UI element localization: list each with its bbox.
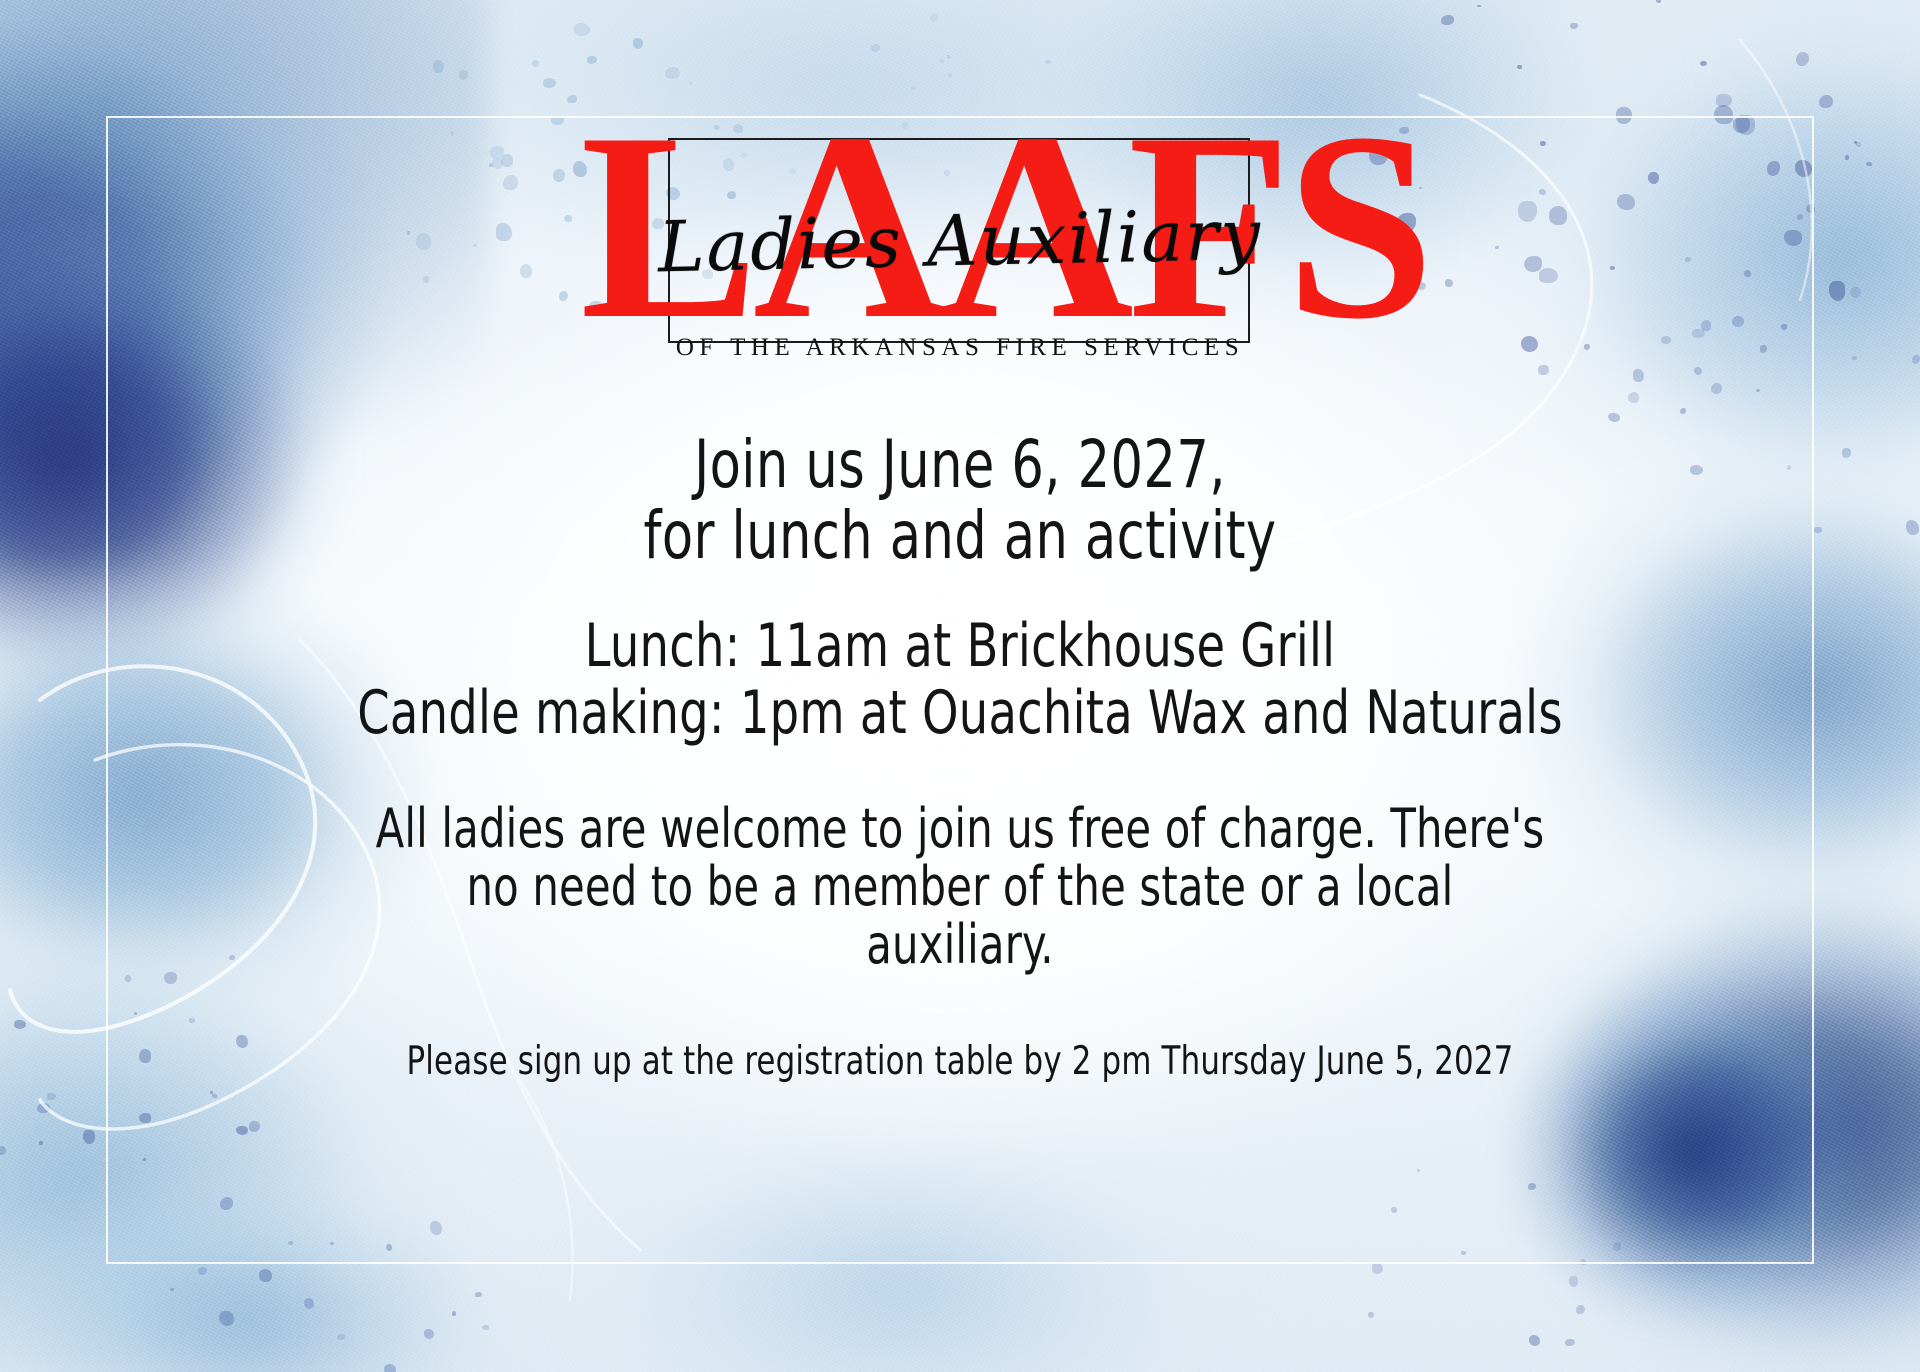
logo-tagline: OF THE ARKANSAS FIRE SERVICES [580,334,1340,362]
event-lead-line-1: Join us June 6, 2027, [694,426,1226,503]
welcome-note-line-1: All ladies are welcome to join us free o… [134,800,1785,858]
welcome-note: All ladies are welcome to join us free o… [134,800,1785,975]
logo-script-name: Ladies Auxiliary [579,198,1340,284]
event-details: Lunch: 11am at Brickhouse Grill Candle m… [0,613,1920,747]
signup-instruction: Please sign up at the registration table… [115,1041,1805,1084]
laafs-logo: LAAFS Ladies Auxiliary OF THE ARKANSAS F… [0,128,1920,378]
flyer-content: Join us June 6, 2027, for lunch and an a… [0,430,1920,1083]
welcome-note-line-3: auxiliary. [134,916,1785,974]
detail-activity: Candle making: 1pm at Ouachita Wax and N… [134,680,1785,747]
event-lead: Join us June 6, 2027, for lunch and an a… [134,430,1785,571]
detail-lunch: Lunch: 11am at Brickhouse Grill [134,613,1785,680]
flyer-canvas: LAAFS Ladies Auxiliary OF THE ARKANSAS F… [0,0,1920,1372]
welcome-note-line-2: no need to be a member of the state or a… [134,858,1785,916]
event-lead-line-2: for lunch and an activity [134,501,1785,572]
